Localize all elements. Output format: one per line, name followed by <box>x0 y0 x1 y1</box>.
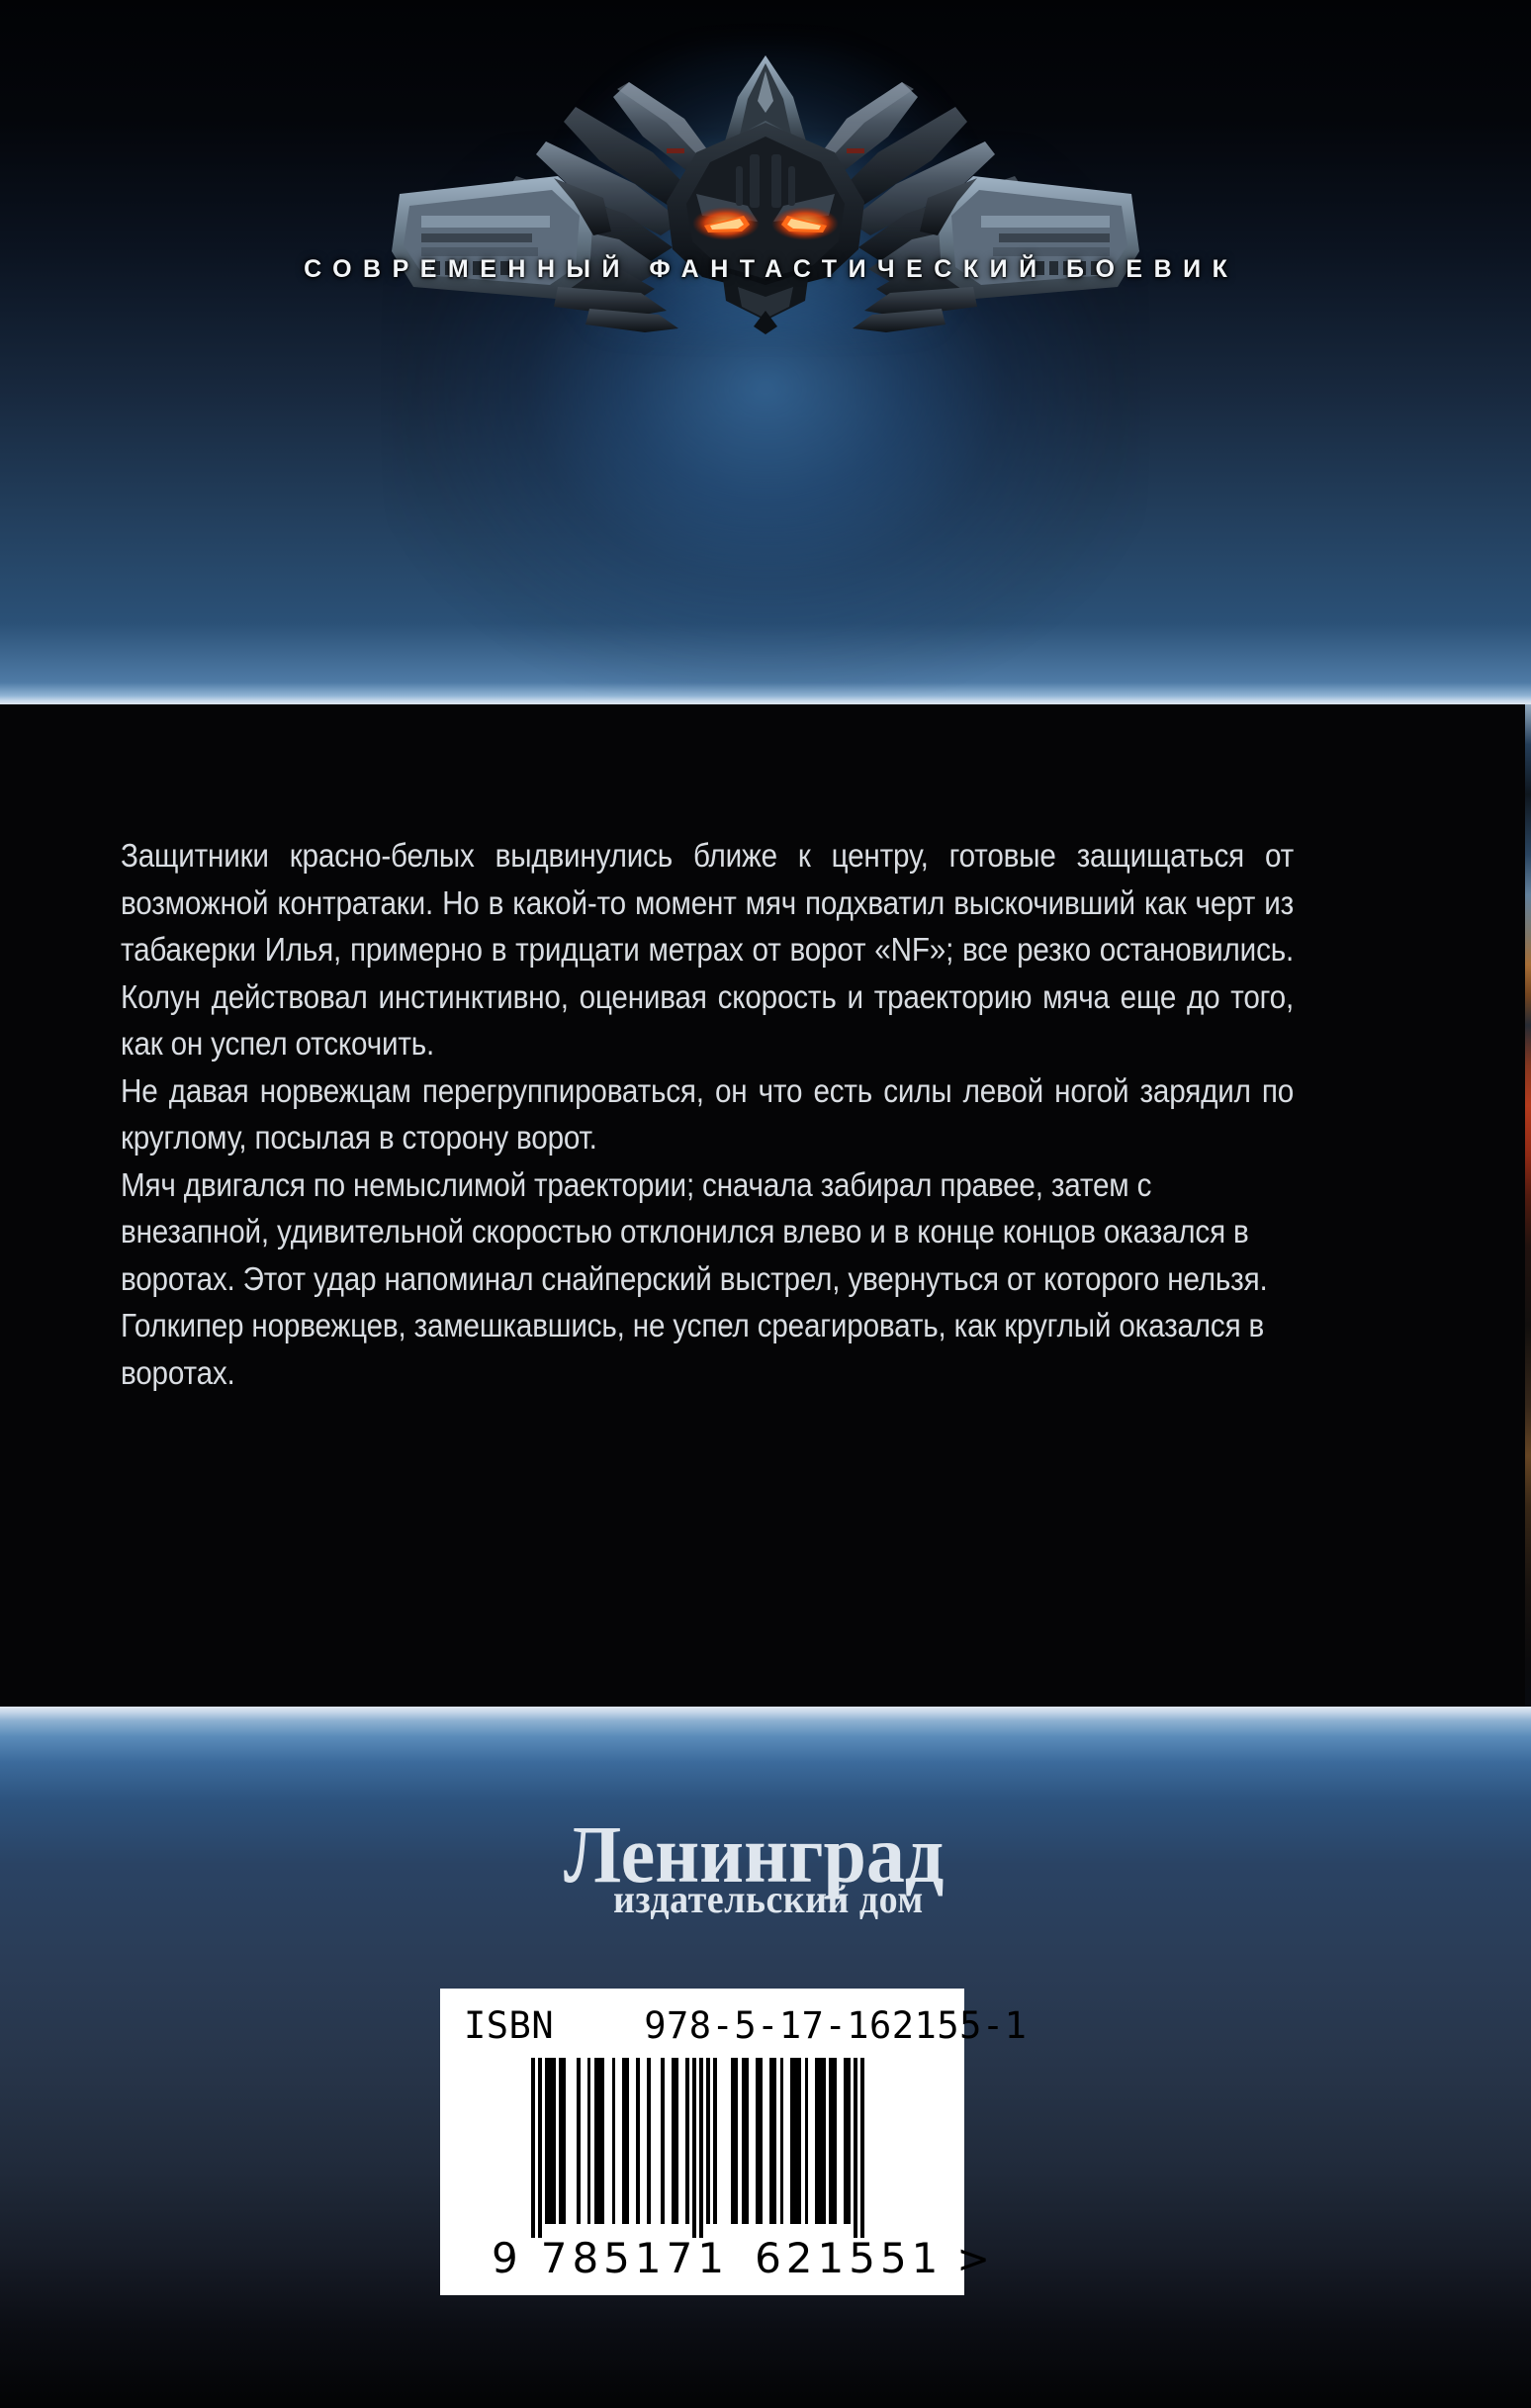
publisher-subtitle: издательский дом <box>613 1880 950 1919</box>
eye-right <box>771 207 839 240</box>
isbn-value: 978-5-17-162155-1 <box>644 2004 1027 2047</box>
ean13-bars <box>531 2058 864 2238</box>
ean-right-group: 621551 <box>755 2234 943 2282</box>
cover-wrap-edge-strip <box>1525 704 1531 1707</box>
ean-left-group: 785171 <box>541 2234 729 2282</box>
blurb-paragraph: Мяч двигался по немыслимой траектории; с… <box>121 1162 1294 1398</box>
isbn-label: ISBN <box>464 2004 554 2047</box>
header-band: СОВРЕМЕННЫЙ ФАНТАСТИЧЕСКИЙ БОЕВИК <box>0 0 1531 704</box>
blurb-paragraph: Защитники красно-белых выдвинулись ближе… <box>121 833 1294 1068</box>
isbn-barcode-block: ISBN 978-5-17-162155-1 9 785171 621551 > <box>440 1989 964 2295</box>
ean-terminator: > <box>956 2237 991 2282</box>
ean13-digits: 9 785171 621551 > <box>492 2234 946 2282</box>
publisher-logo: Ленинград издательский дом <box>0 1815 1531 1919</box>
series-tagline: СОВРЕМЕННЫЙ ФАНТАСТИЧЕСКИЙ БОЕВИК <box>0 255 1531 284</box>
eye-left <box>692 207 760 240</box>
blurb-paragraph: Не давая норвежцам перегруппироваться, о… <box>121 1068 1294 1162</box>
blurb-band: Защитники красно-белых выдвинулись ближе… <box>0 704 1531 1707</box>
book-back-cover: СОВРЕМЕННЫЙ ФАНТАСТИЧЕСКИЙ БОЕВИК Защитн… <box>0 0 1531 2408</box>
mechanical-dragon-head-emblem <box>370 28 1161 334</box>
isbn-text: ISBN 978-5-17-162155-1 <box>464 2004 946 2047</box>
back-cover-blurb: Защитники красно-белых выдвинулись ближе… <box>121 833 1294 1397</box>
ean-lead-digit: 9 <box>492 2234 519 2282</box>
